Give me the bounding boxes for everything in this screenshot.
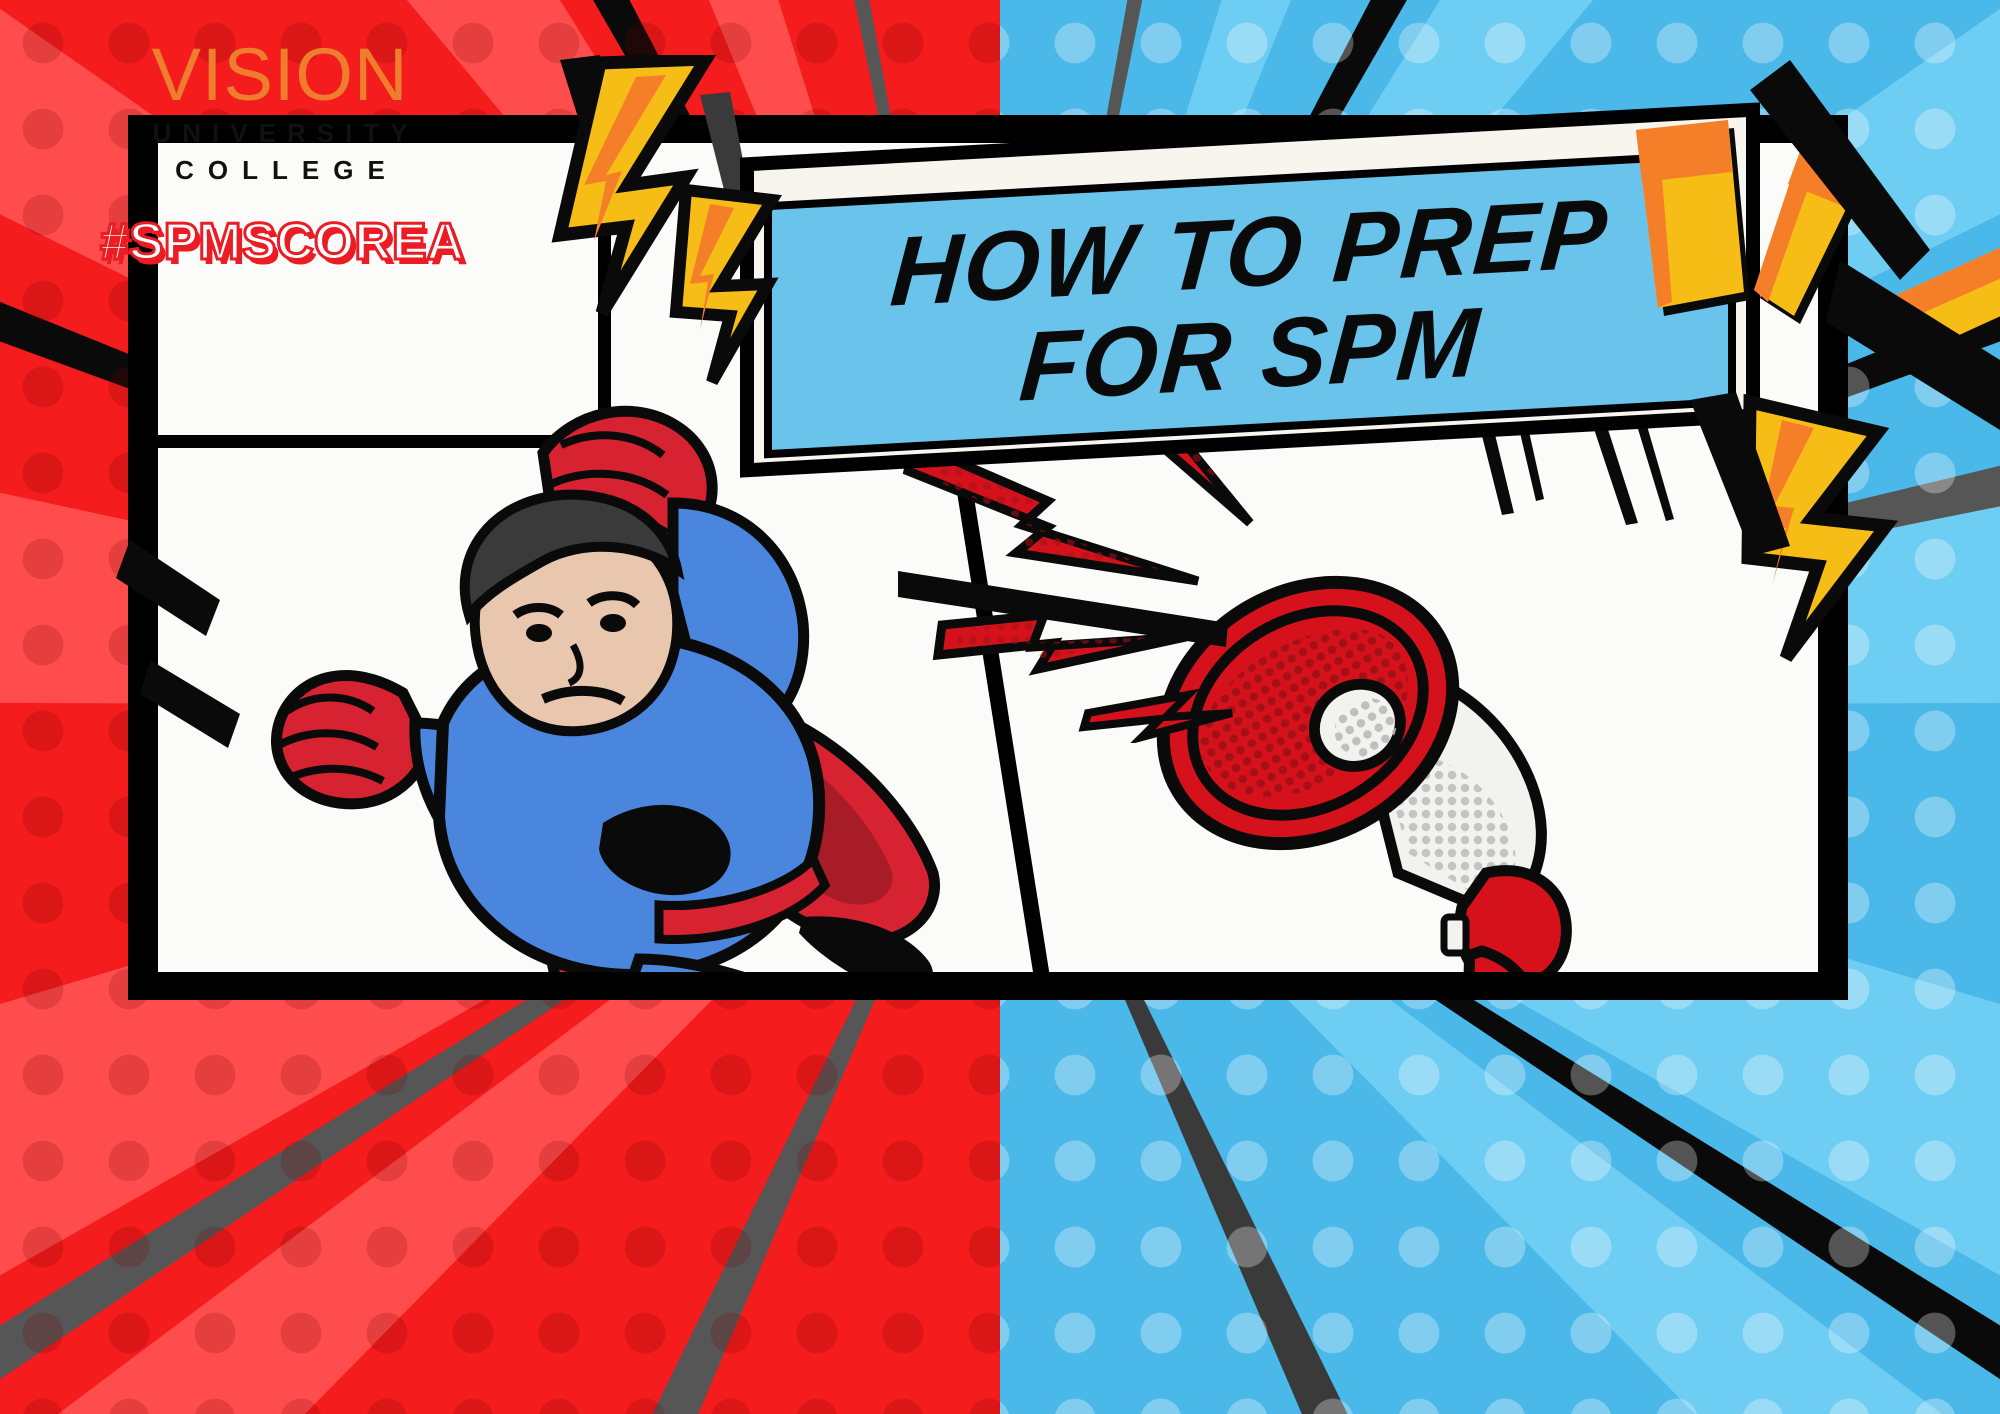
logo-wordmark: VISION (100, 40, 460, 110)
logo-line-university: UNIVERSITY (100, 118, 460, 149)
logo-line-college: COLLEGE (100, 155, 460, 186)
poster-canvas: HOW TO PREP FOR SPM VISION UNIVERSITY CO… (0, 0, 2000, 1414)
headline-line-2: FOR SPM (1016, 292, 1483, 417)
brand-logo-block: VISION UNIVERSITY COLLEGE #SPMSCOREA (100, 40, 460, 272)
campaign-hashtag: #SPMSCOREA (100, 212, 460, 272)
confetti-strip-3 (1858, 228, 2000, 388)
lightning-bolt-right (1690, 390, 1990, 690)
lightning-bolt-left-small (646, 170, 876, 420)
flying-superhero-illustration (243, 393, 1003, 972)
headline-banner: HOW TO PREP FOR SPM (740, 130, 1760, 450)
